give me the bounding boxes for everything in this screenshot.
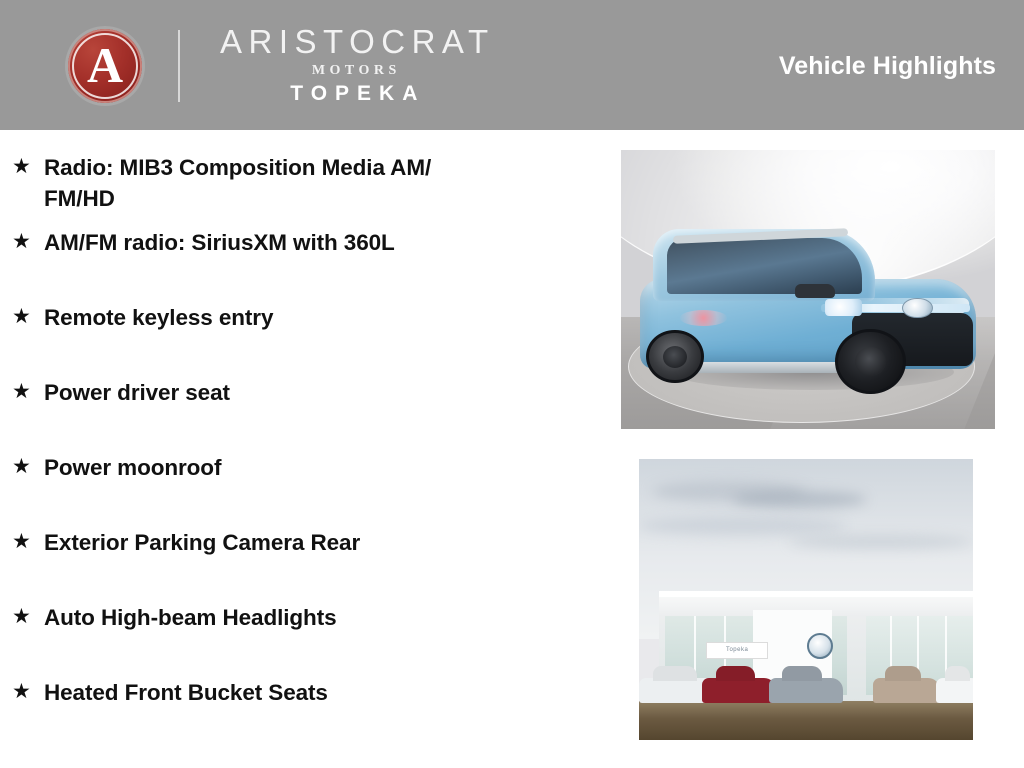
cloud [639,517,846,535]
highlight-item: ★Remote keyless entry [12,302,572,377]
suv-headlight [825,299,862,316]
star-bullet-icon: ★ [12,302,44,332]
star-bullet-icon: ★ [12,377,44,407]
page-title: Vehicle Highlights [779,52,996,81]
star-bullet-icon: ★ [12,602,44,632]
header-bar: A ARISTOCRAT MOTORS TOPEKA Vehicle Highl… [0,0,1024,130]
suv-front-wheel [835,329,906,395]
highlight-item-label: Power moonroof [44,452,221,483]
highlight-item-label: Radio: MIB3 Composition Media AM/ FM/HD [44,152,431,214]
vw-logo-icon [807,633,833,659]
emblem-letter: A [87,40,123,90]
lot-vehicle [702,678,775,703]
dealership-sign: Topeka [706,642,768,659]
brand-location: TOPEKA [283,81,425,107]
suv-side-mirror [795,284,835,298]
cloud [733,491,867,507]
aristocrat-emblem-icon: A [68,29,142,103]
lot-vehicle [769,678,842,703]
dealership-photo: Topeka [639,459,973,740]
brand-logo: A ARISTOCRAT MOTORS TOPEKA [68,28,495,104]
lot-vehicle [873,678,940,703]
highlight-item: ★AM/FM radio: SiriusXM with 360L [12,227,572,302]
vehicle-highlights-list: ★Radio: MIB3 Composition Media AM/ FM/HD… [12,152,572,752]
highlight-item-label: Power driver seat [44,377,230,408]
brand-name: ARISTOCRAT [214,25,495,60]
ground [639,701,973,740]
vw-logo-icon [902,298,932,318]
star-bullet-icon: ★ [12,452,44,482]
star-bullet-icon: ★ [12,677,44,707]
highlight-item-label: Heated Front Bucket Seats [44,677,328,708]
highlight-item-label: Auto High-beam Headlights [44,602,337,633]
lot-vehicle [936,678,973,703]
star-bullet-icon: ★ [12,152,44,182]
star-bullet-icon: ★ [12,227,44,257]
star-bullet-icon: ★ [12,527,44,557]
highlight-item-label: Exterior Parking Camera Rear [44,527,360,558]
highlight-item: ★Exterior Parking Camera Rear [12,527,572,602]
highlight-item: ★Radio: MIB3 Composition Media AM/ FM/HD [12,152,572,227]
brand-wordmark: ARISTOCRAT MOTORS TOPEKA [214,25,495,107]
suv-reflection [680,310,727,326]
suv-illustration [640,223,977,379]
highlight-item: ★Power driver seat [12,377,572,452]
highlight-item-label: AM/FM radio: SiriusXM with 360L [44,227,395,258]
highlight-item: ★Heated Front Bucket Seats [12,677,572,752]
cloud [789,535,973,549]
highlight-item: ★Power moonroof [12,452,572,527]
brand-divider [178,30,180,102]
brand-subtitle: MOTORS [308,60,401,81]
highlight-item: ★Auto High-beam Headlights [12,602,572,677]
highlight-item-label: Remote keyless entry [44,302,273,333]
vehicle-photo [621,150,995,429]
suv-rear-wheel [646,330,703,383]
